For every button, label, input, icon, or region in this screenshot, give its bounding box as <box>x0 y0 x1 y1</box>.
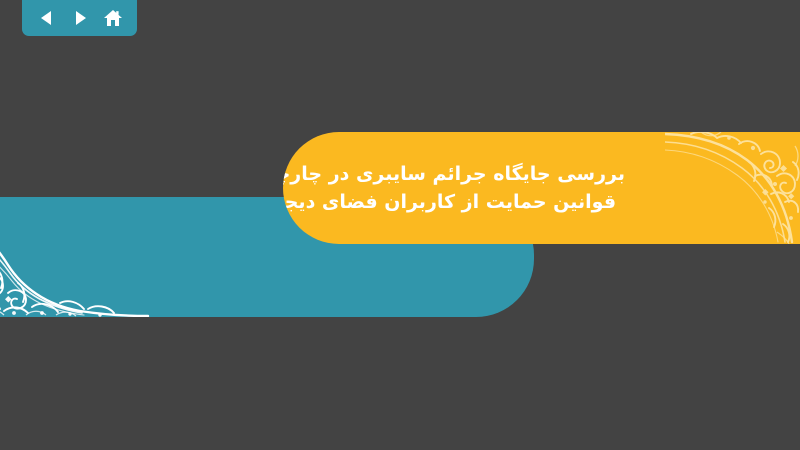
triangle-right-icon <box>71 9 89 27</box>
navigation-toolbar <box>22 0 137 36</box>
next-slide-button[interactable] <box>67 5 93 31</box>
ornamental-corner-flourish-teal <box>0 197 150 317</box>
previous-slide-button[interactable] <box>34 5 60 31</box>
presentation-slide: بررسی جایگاه جرائم سایبری در چارچوب قوان… <box>0 0 800 450</box>
ornamental-corner-flourish-orange <box>665 132 800 244</box>
triangle-left-icon <box>38 9 56 27</box>
home-button[interactable] <box>100 5 126 31</box>
home-icon <box>103 8 123 28</box>
title-line-1: بررسی جایگاه جرائم سایبری در چارچوب <box>283 161 625 187</box>
slide-title: بررسی جایگاه جرائم سایبری در چارچوب قوان… <box>283 132 625 244</box>
title-line-2: قوانین حمایت از کاربران فضای دیجیتال <box>283 189 616 215</box>
title-banner: بررسی جایگاه جرائم سایبری در چارچوب قوان… <box>283 132 800 244</box>
